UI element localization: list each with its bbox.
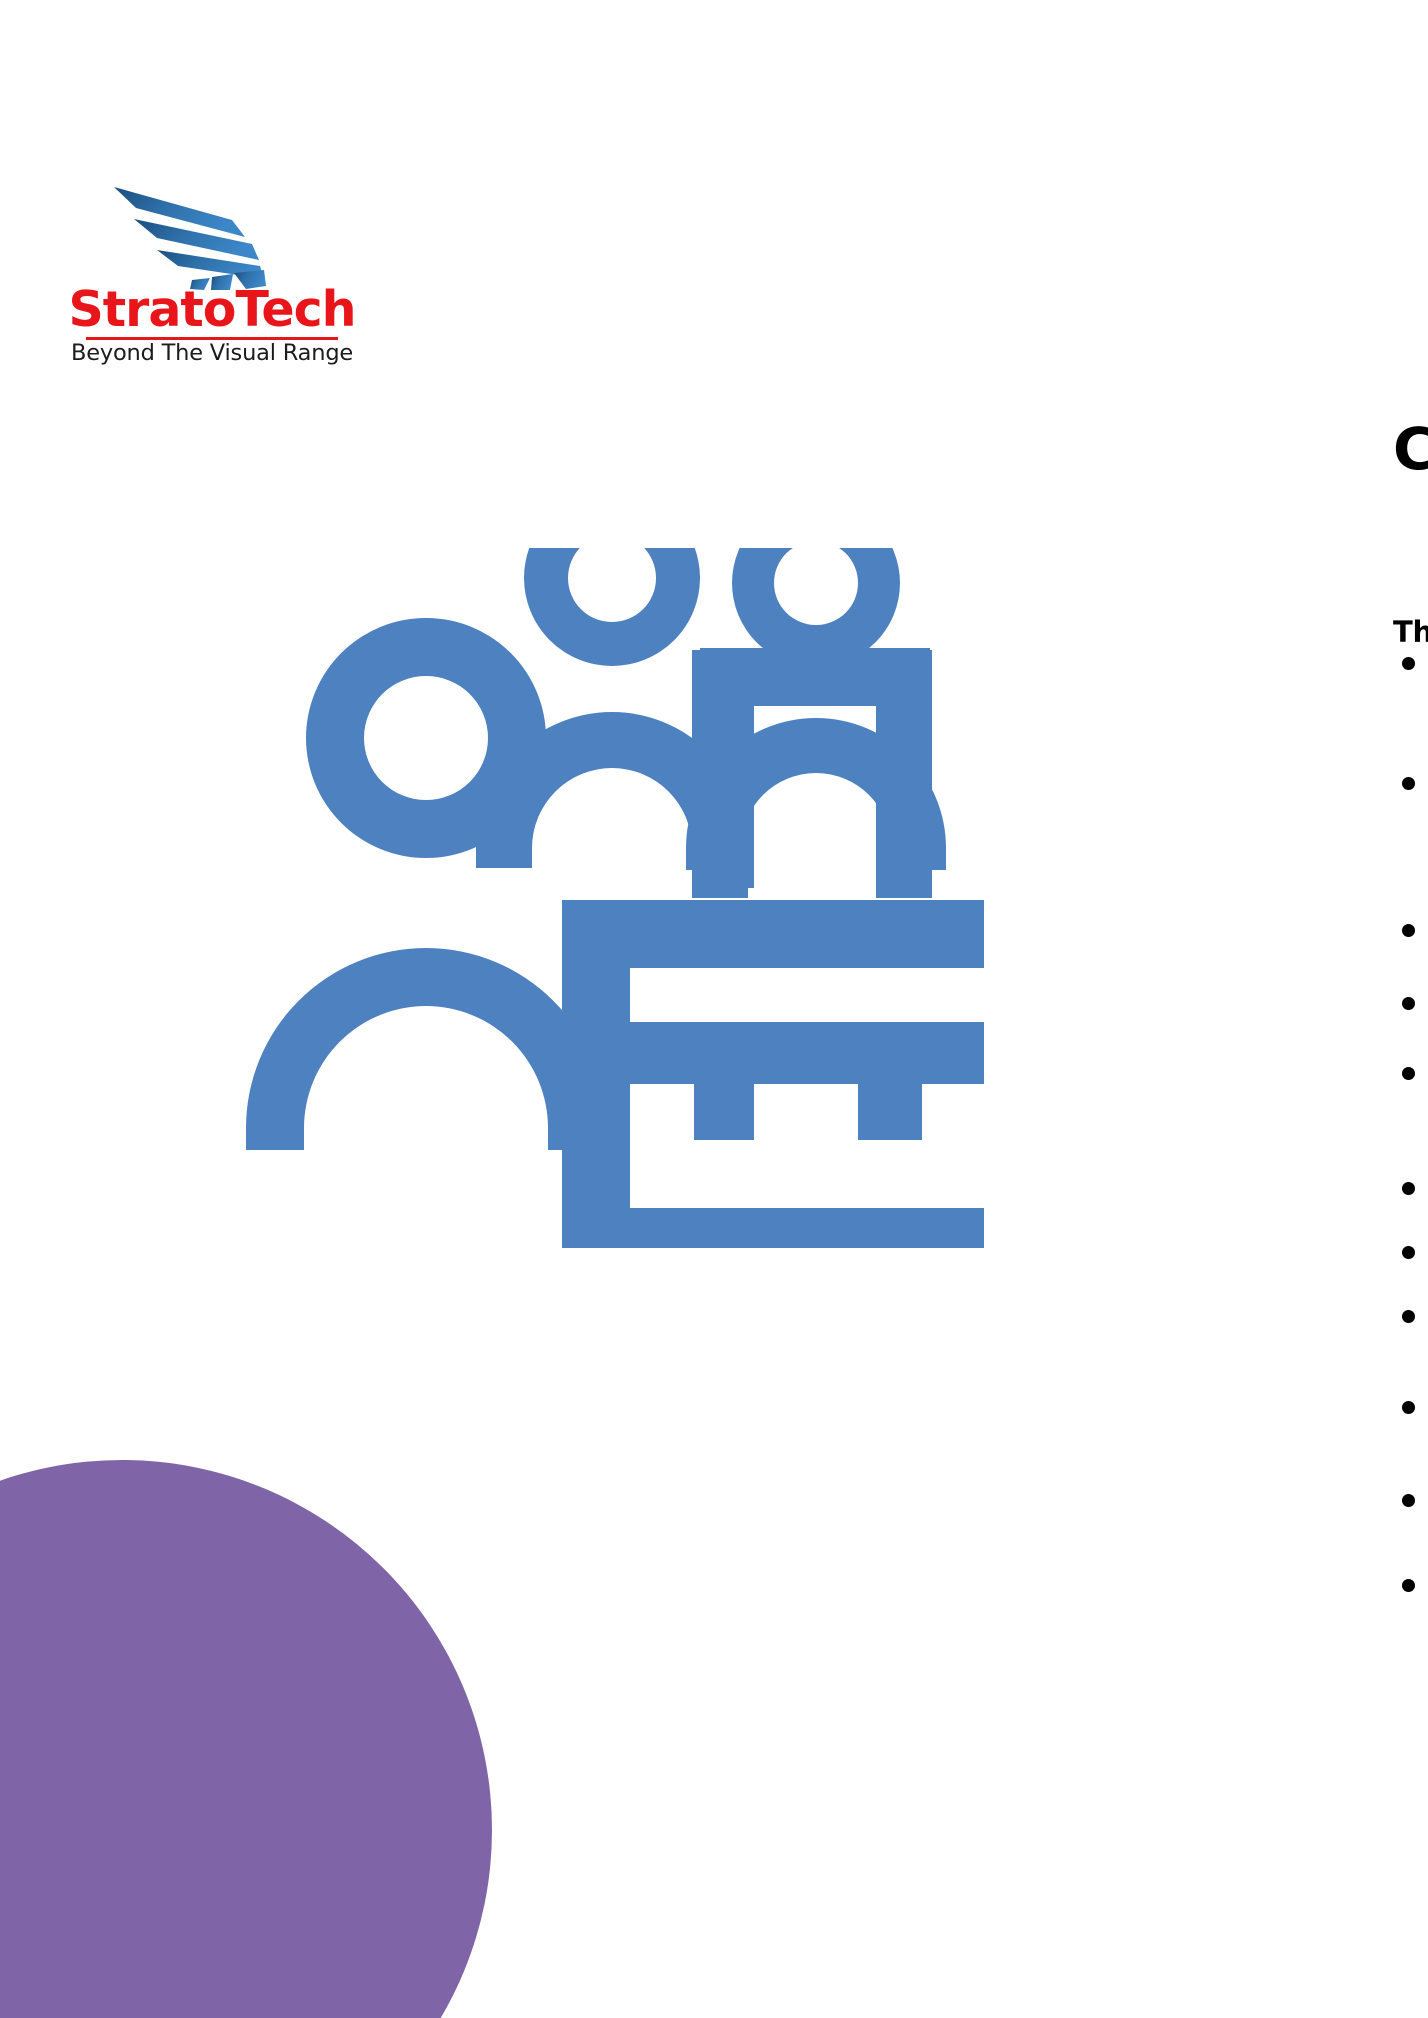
wing-icon [112,182,282,292]
content-intro-text: The [1393,618,1428,647]
logo-tagline: Beyond The Visual Range [62,342,362,365]
content-column: C The [1393,420,1428,647]
page-title: C [1393,420,1428,478]
people-briefcase-icon [244,548,984,1248]
logo-wordmark: StratoTech Beyond The Visual Range [62,285,362,365]
stratotech-logo: StratoTech Beyond The Visual Range [62,182,362,372]
logo-name: StratoTech [62,285,362,334]
purple-quarter-circle [0,1460,492,2018]
document-page: StratoTech Beyond The Visual Range [0,0,1428,2018]
